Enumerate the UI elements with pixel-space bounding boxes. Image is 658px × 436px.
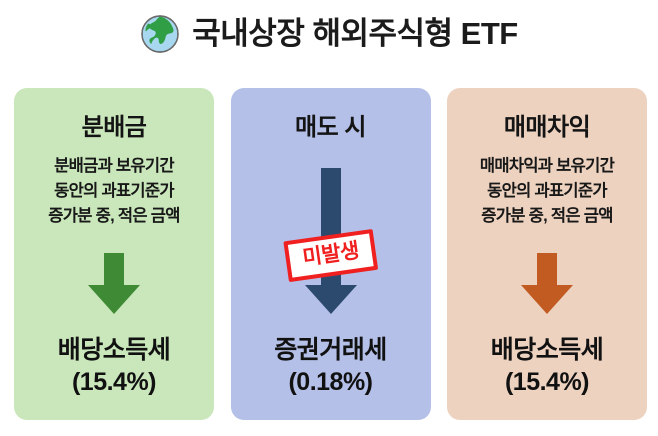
globe-icon	[140, 14, 180, 54]
footer-line: 배당소득세	[447, 334, 647, 366]
body-line: 분배금과 보유기간	[14, 154, 214, 179]
panel-footer: 배당소득세 (15.4%)	[447, 334, 647, 398]
infographic-canvas: 국내상장 해외주식형 ETF 분배금 분배금과 보유기간 동안의 과표기준가 증…	[0, 0, 658, 436]
body-line: 동안의 과표기준가	[14, 179, 214, 204]
body-line: 증가분 중, 적은 금액	[447, 204, 647, 229]
body-line: 매매차익과 보유기간	[447, 154, 647, 179]
body-line: 증가분 중, 적은 금액	[14, 204, 214, 229]
panel-distribution: 분배금 분배금과 보유기간 동안의 과표기준가 증가분 중, 적은 금액 배당소…	[14, 88, 214, 420]
panel-footer: 증권거래세 (0.18%)	[231, 334, 431, 398]
footer-line: (0.18%)	[231, 366, 431, 398]
panel-body: 분배금과 보유기간 동안의 과표기준가 증가분 중, 적은 금액	[14, 154, 214, 229]
panel-capital-gain: 매매차익 매매차익과 보유기간 동안의 과표기준가 증가분 중, 적은 금액 배…	[447, 88, 647, 420]
panel-on-sale: 매도 시 미발생 증권거래세 (0.18%)	[231, 88, 431, 420]
body-line: 동안의 과표기준가	[447, 179, 647, 204]
page-title-text: 국내상장 해외주식형 ETF	[192, 14, 517, 54]
down-arrow-icon	[87, 253, 141, 315]
panel-heading: 분배금	[14, 114, 214, 142]
panel-footer: 배당소득세 (15.4%)	[14, 334, 214, 398]
panel-heading: 매도 시	[231, 114, 431, 142]
down-arrow-icon	[520, 253, 574, 315]
status-badge: 미발생	[283, 229, 378, 282]
panel-body: 매매차익과 보유기간 동안의 과표기준가 증가분 중, 적은 금액	[447, 154, 647, 229]
footer-line: (15.4%)	[14, 366, 214, 398]
footer-line: 증권거래세	[231, 334, 431, 366]
footer-line: (15.4%)	[447, 366, 647, 398]
panel-row: 분배금 분배금과 보유기간 동안의 과표기준가 증가분 중, 적은 금액 배당소…	[14, 88, 647, 420]
panel-heading: 매매차익	[447, 114, 647, 142]
footer-line: 배당소득세	[14, 334, 214, 366]
page-title: 국내상장 해외주식형 ETF	[0, 6, 658, 62]
